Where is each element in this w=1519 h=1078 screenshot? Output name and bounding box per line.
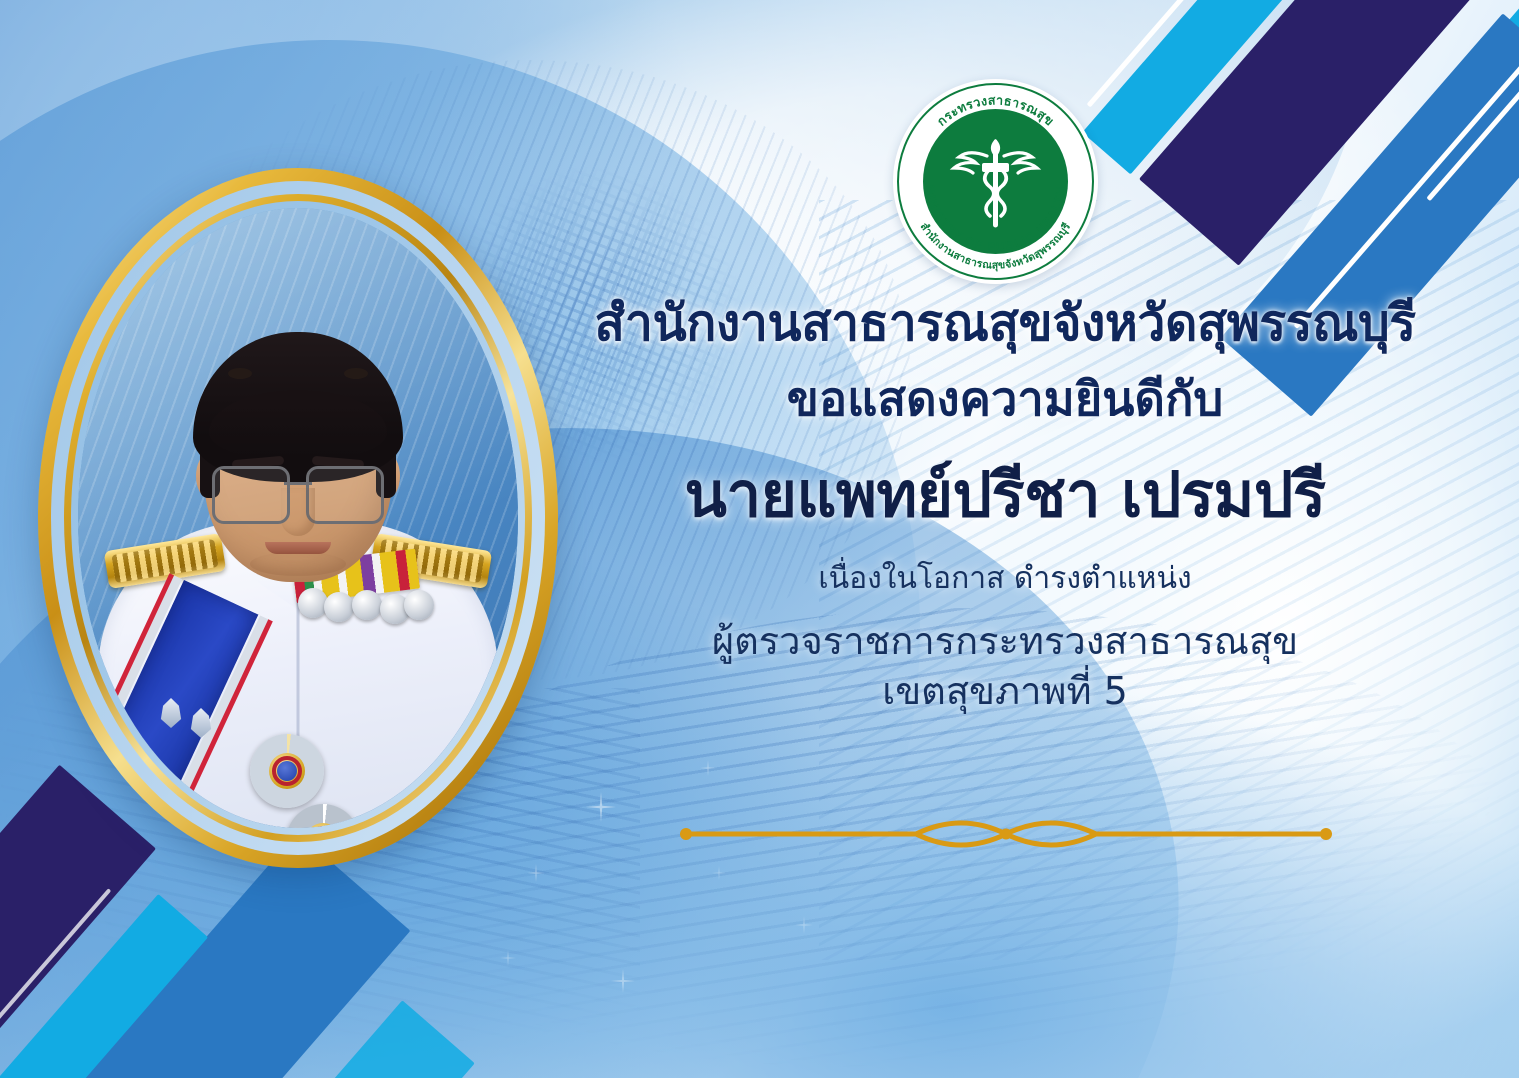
hair: [193, 332, 403, 482]
sparkle-icon: [700, 760, 716, 776]
honoree-portrait: [38, 168, 558, 868]
portrait-figure: [83, 274, 513, 828]
banner-text-block: สำนักงานสาธารณสุขจังหวัดสุพรรณบุรี ขอแสด…: [560, 296, 1450, 716]
sparkle-icon: [795, 916, 813, 934]
honoree-name: นายแพทย์ปรีชา เปรมปรี: [560, 462, 1450, 529]
organization-title: สำนักงานสาธารณสุขจังหวัดสุพรรณบุรี: [560, 296, 1450, 350]
position-line-2: เขตสุขภาพที่ 5: [560, 667, 1450, 716]
logo-text-thai-top: กระทรวงสาธารณสุข: [934, 92, 1057, 128]
portrait-head: [204, 346, 392, 582]
portrait-photo: [78, 208, 518, 828]
position-line-1: ผู้ตรวจราชการกระทรวงสาธารณสุข: [560, 617, 1450, 666]
congratulation-line: ขอแสดงความยินดีกับ: [560, 374, 1450, 426]
congratulation-banner: กระทรวงสาธารณสุข MINISTRY OF PUBLIC HEAL…: [0, 0, 1519, 1078]
gold-ornamental-divider: [676, 812, 1336, 856]
sparkle-icon: [586, 792, 616, 822]
caduceus-icon: [954, 141, 1037, 225]
sparkle-icon: [611, 969, 635, 993]
sparkle-icon: [500, 950, 516, 966]
order-star-upper: [250, 734, 324, 808]
sparkle-icon: [712, 866, 726, 880]
order-star-lower: [286, 804, 360, 828]
svg-text:กระทรวงสาธารณสุข: กระทรวงสาธารณสุข: [934, 92, 1057, 128]
ministry-of-public-health-emblem: กระทรวงสาธารณสุข MINISTRY OF PUBLIC HEAL…: [893, 79, 1098, 284]
occasion-line: เนื่องในโอกาส ดำรงตำแหน่ง: [560, 561, 1450, 597]
